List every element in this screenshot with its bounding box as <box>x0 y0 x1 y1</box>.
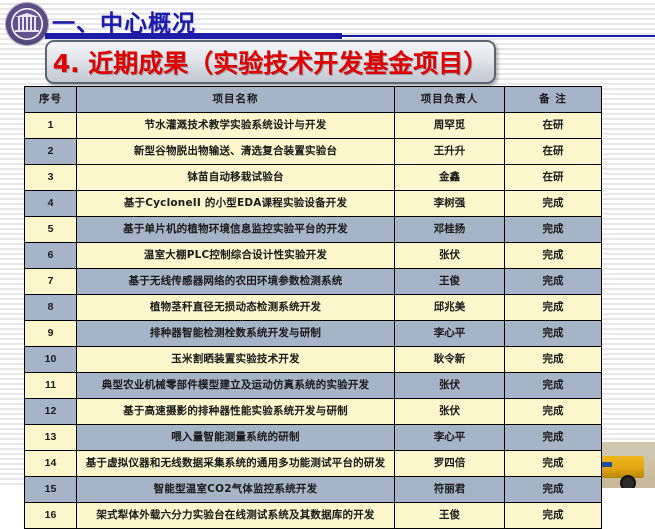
table-row: 15智能型温室CO2气体监控系统开发符丽君完成 <box>25 477 602 503</box>
cell-note: 完成 <box>505 399 602 425</box>
table-header: 序号 项目名称 项目负责人 备 注 <box>25 87 602 113</box>
project-table: 序号 项目名称 项目负责人 备 注 1节水灌溉技术教学实验系统设计与开发周罕觅在… <box>24 86 602 529</box>
cell-name: 典型农业机械零部件模型建立及运动仿真系统的实验开发 <box>77 373 395 399</box>
cell-name: 排种器智能检测栓数系统开发与研制 <box>77 321 395 347</box>
cell-owner: 金鑫 <box>395 165 505 191</box>
cell-no: 3 <box>25 165 77 191</box>
table-row: 3钵苗自动移栽试验台金鑫在研 <box>25 165 602 191</box>
cell-owner: 张伏 <box>395 399 505 425</box>
cell-name: 喂入量智能测量系统的研制 <box>77 425 395 451</box>
cell-name: 新型谷物脱出物输送、清选复合装置实验台 <box>77 139 395 165</box>
slide-title-banner: 4. 近期成果（实验技术开发基金项目） <box>45 40 496 84</box>
table-row: 8植物茎秆直径无损动态检测系统开发邱兆美完成 <box>25 295 602 321</box>
slide-title-text: 4. 近期成果（实验技术开发基金项目） <box>53 44 489 80</box>
cell-name: 架式犁体外载六分力实验台在线测试系统及其数据库的开发 <box>77 503 395 529</box>
cell-note: 在研 <box>505 139 602 165</box>
cell-no: 9 <box>25 321 77 347</box>
cell-owner: 李心平 <box>395 425 505 451</box>
table-row: 14基于虚拟仪器和无线数据采集系统的通用多功能测试平台的研发罗四倍完成 <box>25 451 602 477</box>
column-header-note: 备 注 <box>505 87 602 113</box>
cell-note: 在研 <box>505 165 602 191</box>
table-row: 1节水灌溉技术教学实验系统设计与开发周罕觅在研 <box>25 113 602 139</box>
university-emblem-icon <box>5 2 49 46</box>
cell-note: 完成 <box>505 191 602 217</box>
cell-owner: 符丽君 <box>395 477 505 503</box>
cell-name: 植物茎秆直径无损动态检测系统开发 <box>77 295 395 321</box>
cell-owner: 耿令新 <box>395 347 505 373</box>
cell-no: 6 <box>25 243 77 269</box>
emblem-base-line <box>15 30 39 32</box>
cell-note: 完成 <box>505 347 602 373</box>
table-row: 2新型谷物脱出物输送、清选复合装置实验台王升升在研 <box>25 139 602 165</box>
cell-name: 基于虚拟仪器和无线数据采集系统的通用多功能测试平台的研发 <box>77 451 395 477</box>
cell-note: 在研 <box>505 113 602 139</box>
cell-owner: 王升升 <box>395 139 505 165</box>
cell-note: 完成 <box>505 425 602 451</box>
cell-owner: 王俊 <box>395 503 505 529</box>
cell-note: 完成 <box>505 477 602 503</box>
table-row: 12基于高速摄影的排种器性能实验系统开发与研制张伏完成 <box>25 399 602 425</box>
cell-note: 完成 <box>505 217 602 243</box>
cell-no: 2 <box>25 139 77 165</box>
table-row: 9排种器智能检测栓数系统开发与研制李心平完成 <box>25 321 602 347</box>
column-header-name: 项目名称 <box>77 87 395 113</box>
cell-note: 完成 <box>505 451 602 477</box>
table-row: 10玉米割晒装置实验技术开发耿令新完成 <box>25 347 602 373</box>
cell-name: 智能型温室CO2气体监控系统开发 <box>77 477 395 503</box>
table-row: 5基于单片机的植物环境信息监控实验平台的开发邓桂扬完成 <box>25 217 602 243</box>
cell-owner: 李心平 <box>395 321 505 347</box>
cell-owner: 张伏 <box>395 373 505 399</box>
cell-name: 基于CycloneII 的小型EDA课程实验设备开发 <box>77 191 395 217</box>
cell-owner: 邱兆美 <box>395 295 505 321</box>
cell-name: 基于无线传感器网络的农田环境参数检测系统 <box>77 269 395 295</box>
cell-no: 15 <box>25 477 77 503</box>
photo-harvester-rear-wheel <box>620 475 636 488</box>
table-row: 16架式犁体外载六分力实验台在线测试系统及其数据库的开发王俊完成 <box>25 503 602 529</box>
table-row: 6温室大棚PLC控制综合设计性实验开发张伏完成 <box>25 243 602 269</box>
table-row: 13喂入量智能测量系统的研制李心平完成 <box>25 425 602 451</box>
cell-owner: 邓桂扬 <box>395 217 505 243</box>
cell-owner: 王俊 <box>395 269 505 295</box>
emblem-building-columns <box>17 17 37 31</box>
cell-name: 基于单片机的植物环境信息监控实验平台的开发 <box>77 217 395 243</box>
table-row: 7基于无线传感器网络的农田环境参数检测系统王俊完成 <box>25 269 602 295</box>
cell-no: 5 <box>25 217 77 243</box>
cell-note: 完成 <box>505 503 602 529</box>
table-row: 4基于CycloneII 的小型EDA课程实验设备开发李树强完成 <box>25 191 602 217</box>
cell-name: 钵苗自动移栽试验台 <box>77 165 395 191</box>
cell-owner: 李树强 <box>395 191 505 217</box>
cell-note: 完成 <box>505 269 602 295</box>
cell-name: 温室大棚PLC控制综合设计性实验开发 <box>77 243 395 269</box>
cell-note: 完成 <box>505 373 602 399</box>
table-header-row: 序号 项目名称 项目负责人 备 注 <box>25 87 602 113</box>
cell-note: 完成 <box>505 295 602 321</box>
cell-no: 7 <box>25 269 77 295</box>
cell-no: 11 <box>25 373 77 399</box>
cell-no: 1 <box>25 113 77 139</box>
cell-no: 12 <box>25 399 77 425</box>
header-rule-thick <box>45 33 342 39</box>
cell-no: 16 <box>25 503 77 529</box>
column-header-no: 序号 <box>25 87 77 113</box>
table-row: 11典型农业机械零部件模型建立及运动仿真系统的实验开发张伏完成 <box>25 373 602 399</box>
cell-name: 玉米割晒装置实验技术开发 <box>77 347 395 373</box>
cell-name: 节水灌溉技术教学实验系统设计与开发 <box>77 113 395 139</box>
column-header-owner: 项目负责人 <box>395 87 505 113</box>
cell-note: 完成 <box>505 243 602 269</box>
cell-no: 14 <box>25 451 77 477</box>
table-body: 1节水灌溉技术教学实验系统设计与开发周罕觅在研2新型谷物脱出物输送、清选复合装置… <box>25 113 602 529</box>
cell-no: 4 <box>25 191 77 217</box>
cell-no: 13 <box>25 425 77 451</box>
cell-owner: 周罕觅 <box>395 113 505 139</box>
cell-owner: 罗四倍 <box>395 451 505 477</box>
cell-no: 10 <box>25 347 77 373</box>
cell-owner: 张伏 <box>395 243 505 269</box>
cell-note: 完成 <box>505 321 602 347</box>
cell-name: 基于高速摄影的排种器性能实验系统开发与研制 <box>77 399 395 425</box>
header-rule-thin <box>342 35 655 37</box>
cell-no: 8 <box>25 295 77 321</box>
